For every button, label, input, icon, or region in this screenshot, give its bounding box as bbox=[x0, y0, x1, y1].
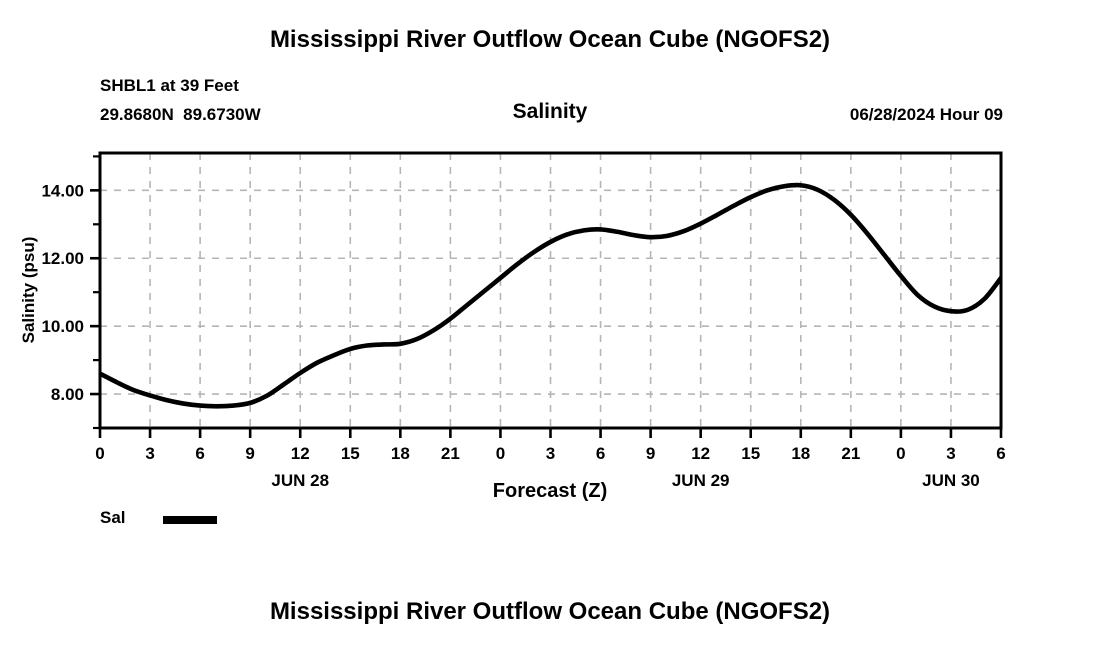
y-tick-label: 10.00 bbox=[41, 317, 84, 336]
x-tick-label: 3 bbox=[946, 444, 955, 463]
y-axis-tick-labels: 8.0010.0012.0014.00 bbox=[41, 181, 84, 404]
chart-page: Mississippi River Outflow Ocean Cube (NG… bbox=[0, 0, 1100, 650]
salinity-line-chart: 8.0010.0012.0014.00 03691215182103691215… bbox=[0, 0, 1100, 650]
x-tick-label: 6 bbox=[596, 444, 605, 463]
x-axis-tick-labels: 036912151821036912151821036 bbox=[95, 444, 1005, 463]
y-tick-label: 14.00 bbox=[41, 181, 84, 200]
x-tick-label: 0 bbox=[896, 444, 905, 463]
axis-ticks-layer bbox=[90, 156, 1001, 438]
x-tick-label: 0 bbox=[496, 444, 505, 463]
x-tick-label: 9 bbox=[245, 444, 254, 463]
legend-label-sal: Sal bbox=[100, 508, 126, 528]
x-tick-label: 15 bbox=[741, 444, 760, 463]
x-day-label: JUN 28 bbox=[271, 471, 329, 490]
y-tick-label: 8.00 bbox=[51, 385, 84, 404]
y-tick-label: 12.00 bbox=[41, 249, 84, 268]
x-tick-label: 3 bbox=[145, 444, 154, 463]
x-tick-label: 12 bbox=[691, 444, 710, 463]
x-tick-label: 18 bbox=[391, 444, 410, 463]
x-tick-label: 9 bbox=[646, 444, 655, 463]
page-title-bottom: Mississippi River Outflow Ocean Cube (NG… bbox=[0, 598, 1100, 626]
plot-frame bbox=[100, 153, 1001, 428]
x-tick-label: 18 bbox=[791, 444, 810, 463]
x-axis-title: Forecast (Z) bbox=[493, 480, 607, 502]
grid-layer bbox=[100, 153, 1001, 428]
x-tick-label: 3 bbox=[546, 444, 555, 463]
x-tick-label: 21 bbox=[441, 444, 460, 463]
x-day-label: JUN 30 bbox=[922, 471, 980, 490]
x-tick-label: 0 bbox=[95, 444, 104, 463]
x-tick-label: 15 bbox=[341, 444, 360, 463]
x-tick-label: 6 bbox=[195, 444, 204, 463]
x-tick-label: 21 bbox=[841, 444, 860, 463]
x-axis-day-labels: JUN 28JUN 29JUN 30 bbox=[271, 471, 979, 490]
plot-area: 8.0010.0012.0014.00 03691215182103691215… bbox=[0, 0, 1100, 650]
x-tick-label: 12 bbox=[291, 444, 310, 463]
legend-swatch-sal bbox=[163, 516, 217, 524]
x-day-label: JUN 29 bbox=[672, 471, 730, 490]
y-axis-title: Salinity (psu) bbox=[19, 237, 38, 344]
x-tick-label: 6 bbox=[996, 444, 1005, 463]
